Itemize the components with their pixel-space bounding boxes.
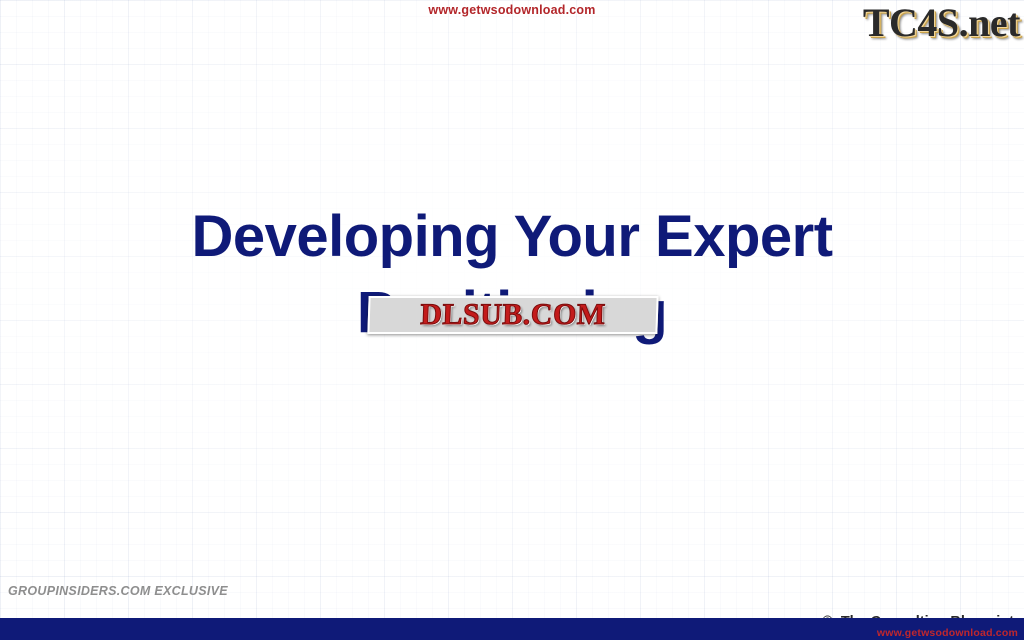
exclusive-note: GROUPINSIDERS.COM EXCLUSIVE	[8, 584, 228, 598]
bottom-watermark-text: www.getwsodownload.com	[877, 627, 1018, 639]
tc4s-brand-logo: TC4S.net	[863, 0, 1020, 46]
dlsub-watermark-label: DLSUB.COM	[420, 300, 606, 330]
slide-canvas: www.getwsodownload.com TC4S.net Developi…	[0, 0, 1024, 640]
footer-bar	[0, 618, 1024, 640]
dlsub-watermark-badge: DLSUB.COM	[367, 296, 658, 334]
